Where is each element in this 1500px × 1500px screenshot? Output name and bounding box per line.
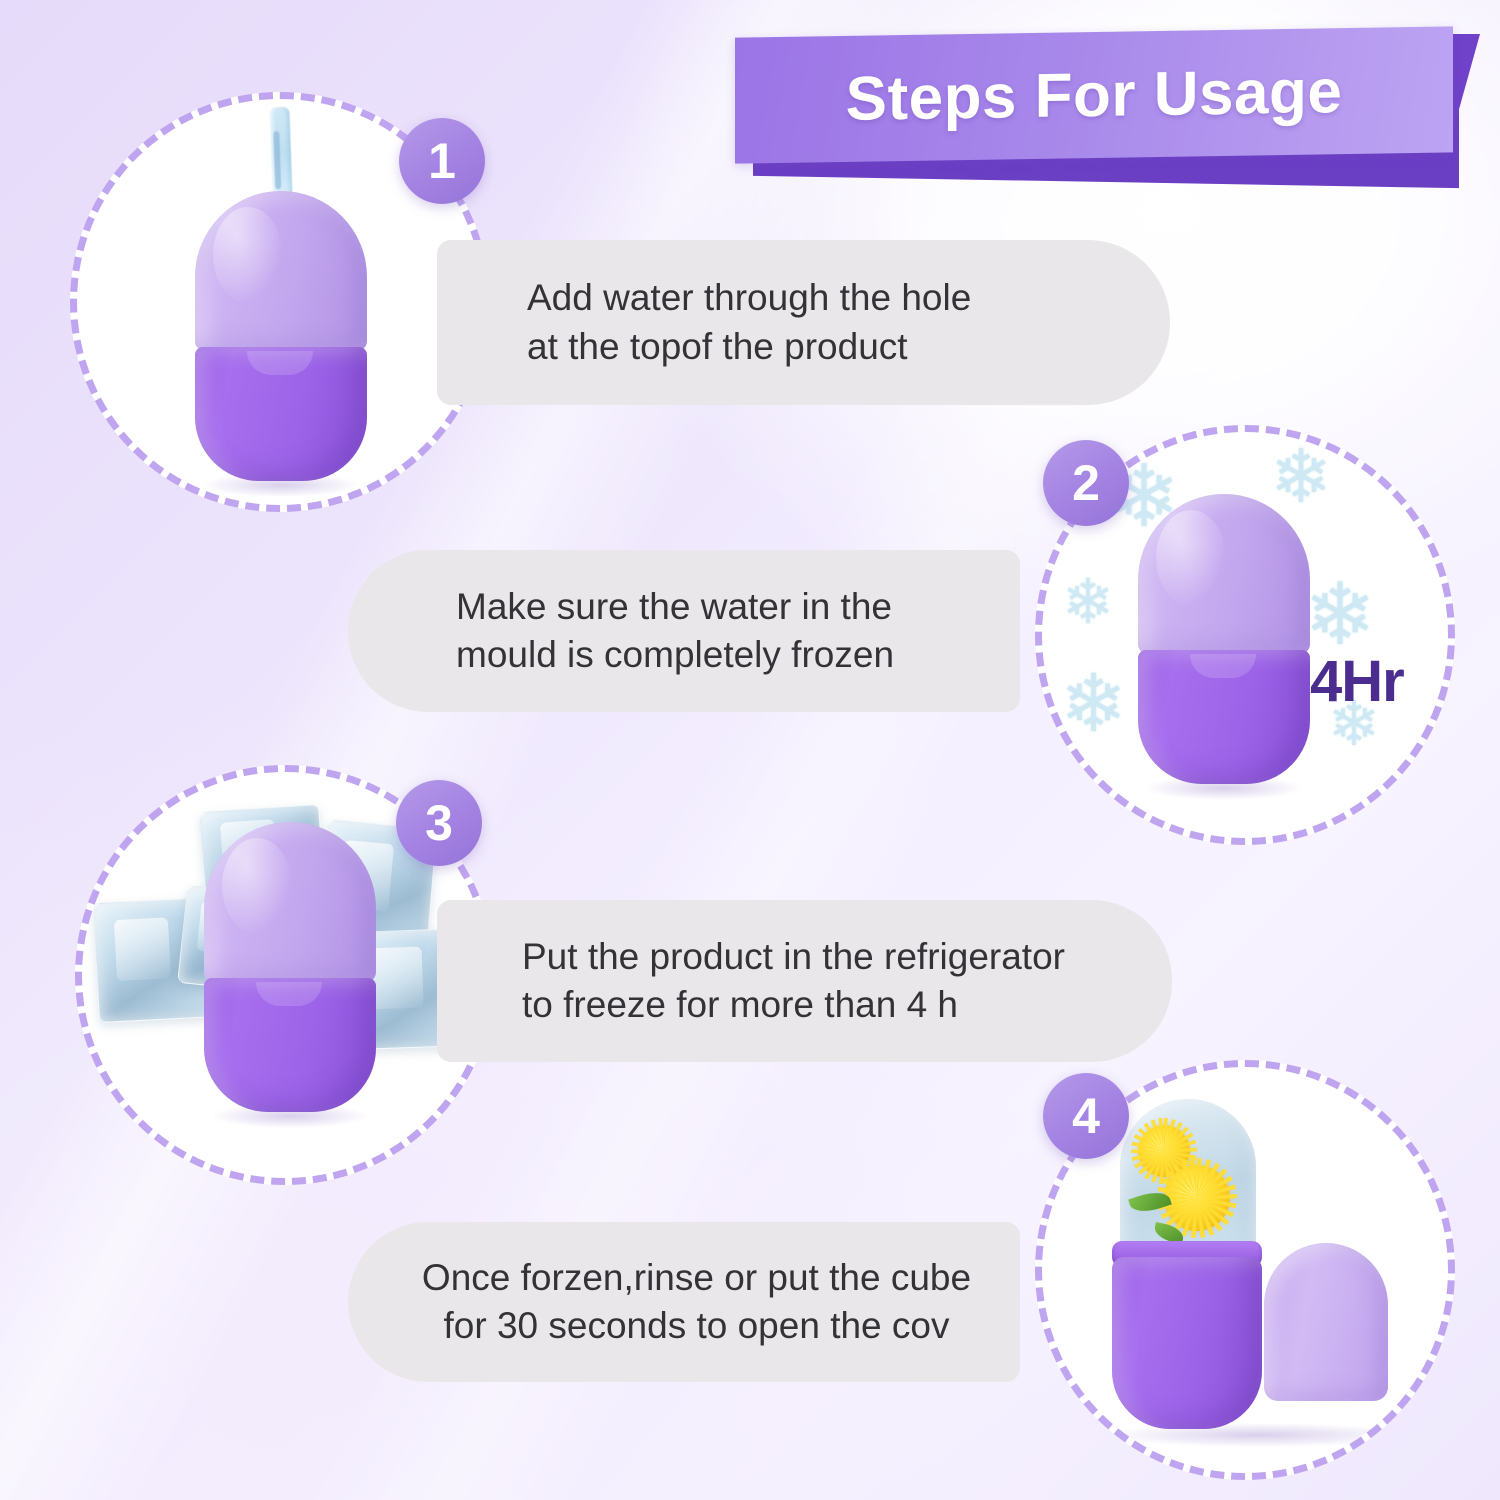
product-capsule [204,822,376,1112]
product-base [195,347,367,481]
step-4-text-bubble: Once forzen,rinse or put the cube for 30… [348,1222,1020,1382]
product-cap [204,822,376,982]
snowflake-icon: ❄ [1304,572,1376,658]
product-capsule [195,191,367,481]
product-cap-removed [1264,1243,1388,1401]
product-cap [195,191,367,351]
snowflake-icon: ❄ [1060,664,1127,744]
step-3-text-bubble: Put the product in the refrigerator to f… [437,900,1172,1062]
product-shadow [203,473,359,497]
step-3-text: Put the product in the refrigerator to f… [522,933,1065,1029]
step-3-badge: 3 [396,780,482,866]
step-2-badge: 2 [1043,440,1129,526]
product-base [204,978,376,1112]
product-base [1138,650,1310,784]
product-cup-body [1112,1257,1262,1429]
product-shadow [1108,1423,1408,1447]
page-title: Steps For Usage [735,26,1453,163]
step-4-text: Once forzen,rinse or put the cube for 30… [422,1254,971,1350]
header-banner: Steps For Usage [735,28,1480,188]
step-4-badge: 4 [1043,1073,1129,1159]
step-1-badge: 1 [399,118,485,204]
dandelion-flower-icon [1164,1165,1230,1231]
product-shadow [212,1104,368,1128]
usage-steps-poster: Steps For Usage 1 Add water through the … [0,0,1500,1500]
step-2-text-bubble: Make sure the water in the mould is comp… [348,550,1020,712]
product-capsule [1138,494,1310,784]
step-2-text: Make sure the water in the mould is comp… [456,583,894,679]
product-shadow [1146,776,1302,800]
freeze-duration-label: 4Hr [1310,648,1404,715]
water-stream-icon [269,107,292,200]
snowflake-icon: ❄ [1062,572,1114,634]
product-cap [1138,494,1310,654]
step-1-text: Add water through the hole at the topof … [527,274,971,370]
step-1-text-bubble: Add water through the hole at the topof … [437,240,1170,405]
